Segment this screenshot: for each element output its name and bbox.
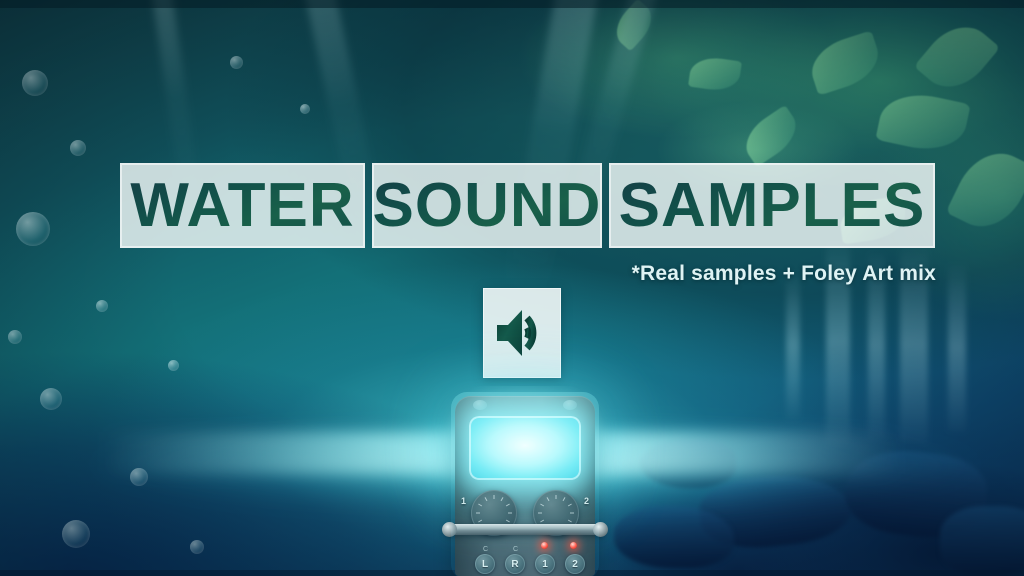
speaker-badge — [483, 288, 561, 378]
top-letterbox-bar — [0, 0, 1024, 8]
recorder-small-label-1: C — [483, 546, 488, 553]
title-panel-water: WATER — [120, 163, 365, 248]
recorder-button-r[interactable]: R — [505, 554, 525, 574]
recorder-button-1[interactable]: 1 — [535, 554, 555, 574]
recorder-screen — [469, 416, 581, 480]
title-word-sound: SOUND — [373, 175, 602, 237]
tagline-text: *Real samples + Foley Art mix — [632, 262, 936, 286]
recorder-led-2 — [570, 542, 577, 549]
poster-canvas: WATER SOUND SAMPLES *Real samples + Fole… — [0, 0, 1024, 576]
recorder-mic-right — [563, 400, 577, 410]
speaker-volume-icon — [494, 304, 550, 362]
title-panel-sound: SOUND — [372, 163, 602, 248]
recorder-small-label-2: C — [513, 546, 518, 553]
title-panel-samples: SAMPLES — [609, 163, 935, 248]
poster-title: WATER SOUND SAMPLES — [120, 163, 935, 248]
recorder-led-1 — [541, 542, 548, 549]
recorder-handle-bar[interactable] — [445, 524, 605, 535]
recorder-button-2[interactable]: 2 — [565, 554, 585, 574]
title-word-water: WATER — [130, 175, 354, 237]
recorder-mic-left — [473, 400, 487, 410]
knob-label-2: 2 — [584, 496, 589, 506]
knob-label-1: 1 — [461, 496, 466, 506]
recorder-button-l[interactable]: L — [475, 554, 495, 574]
title-word-samples: SAMPLES — [619, 175, 926, 237]
field-recorder-device: 1 2 C C — [455, 396, 595, 576]
